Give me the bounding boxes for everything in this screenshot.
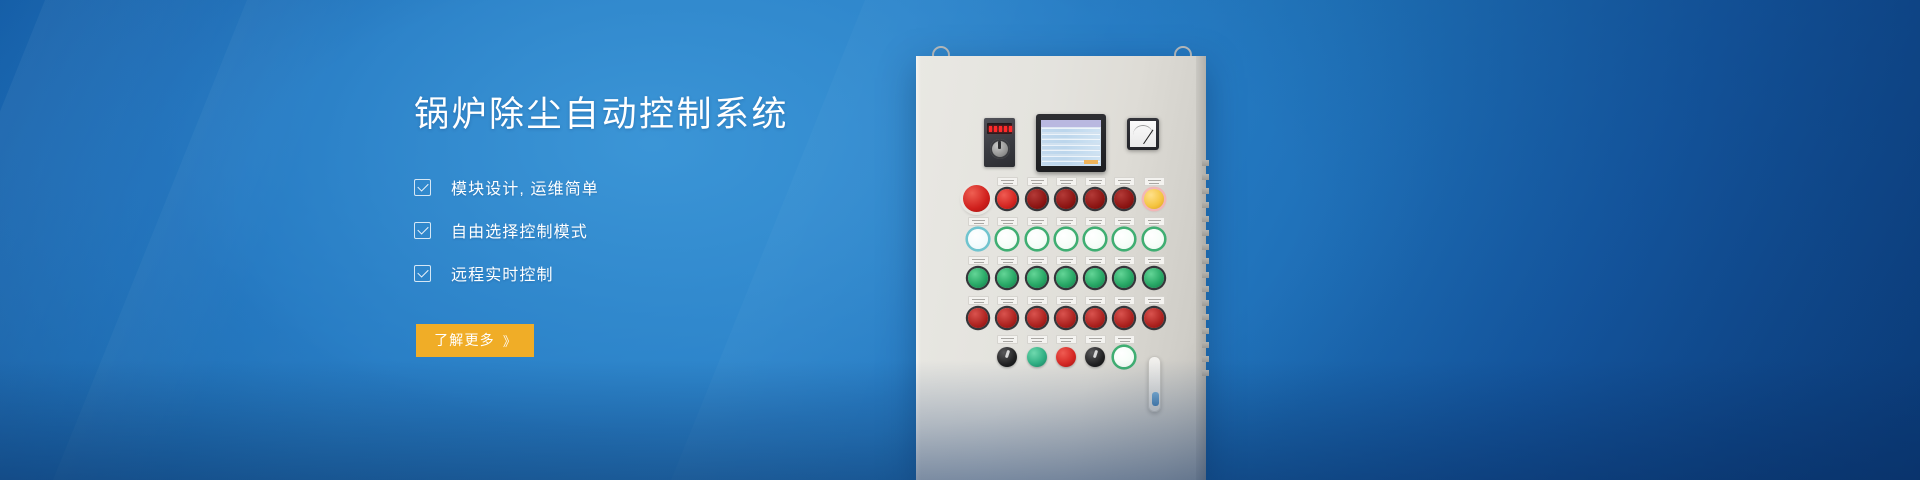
indicator-lamp-red[interactable] [1144, 308, 1164, 328]
hmi-screen-header [1041, 120, 1101, 127]
indicator-lamp-white[interactable] [968, 229, 988, 249]
indicator-lamp-green[interactable] [1114, 268, 1134, 288]
control-cabinet-image [916, 46, 1206, 480]
device-label [1114, 217, 1135, 226]
device-label [1027, 177, 1048, 186]
checkbox-check-icon [414, 265, 431, 282]
device-label [1114, 335, 1135, 344]
device-label [997, 335, 1018, 344]
indicator-lamp-green[interactable] [1144, 268, 1164, 288]
meter-needle-icon [1143, 130, 1154, 145]
light-streak-decoration [0, 0, 432, 480]
indicator-lamp-red[interactable] [1027, 308, 1047, 328]
device-label [1144, 296, 1165, 305]
indicator-lamp-red[interactable] [1114, 308, 1134, 328]
learn-more-button[interactable]: 了解更多 》 [416, 324, 534, 357]
chevron-right-icon: 》 [503, 331, 516, 350]
rotary-knob-icon [990, 139, 1010, 159]
led-display [987, 123, 1012, 134]
device-label [1056, 335, 1077, 344]
device-label [1114, 256, 1135, 265]
checkbox-check-icon [414, 179, 431, 196]
checkbox-check-icon [414, 222, 431, 239]
device-label [1144, 217, 1165, 226]
device-label [997, 217, 1018, 226]
indicator-lamp-red[interactable] [1056, 308, 1076, 328]
learn-more-label: 了解更多 [434, 330, 495, 350]
indicator-lamp-green[interactable] [1085, 268, 1105, 288]
light-streak-decoration [0, 0, 324, 480]
lamp-row [962, 263, 1167, 290]
meter-face [1130, 121, 1156, 147]
device-label [1056, 217, 1077, 226]
indicator-lamp-white[interactable] [1114, 229, 1134, 249]
indicator-lamp-red[interactable] [997, 189, 1017, 209]
lamp-row [962, 184, 1167, 211]
cabinet-left-highlight [916, 56, 921, 480]
indicator-lamp-red[interactable] [997, 308, 1017, 328]
device-label [1114, 296, 1135, 305]
device-label [1056, 177, 1077, 186]
indicator-lamp-amber[interactable] [1144, 189, 1164, 209]
indicator-lamp-white[interactable] [1056, 229, 1076, 249]
device-label [968, 296, 989, 305]
indicator-lamp-red[interactable] [1056, 189, 1076, 209]
device-label [968, 256, 989, 265]
feature-label: 远程实时控制 [451, 261, 554, 285]
feature-label: 自由选择控制模式 [451, 218, 588, 242]
list-item: 自由选择控制模式 [414, 214, 974, 247]
hero-banner: 锅炉除尘自动控制系统 模块设计, 运维简单 自由选择控制模式 远程实时控制 了解… [0, 0, 1920, 480]
indicator-lamp-red[interactable] [1114, 189, 1134, 209]
emergency-stop-button[interactable] [963, 185, 990, 212]
indicator-lamp-red[interactable] [968, 308, 988, 328]
indicator-button-grid [962, 184, 1167, 382]
hmi-screen [1041, 120, 1101, 166]
device-label [1144, 256, 1165, 265]
indicator-lamp-green[interactable] [1027, 268, 1047, 288]
digital-temperature-controller [984, 118, 1015, 167]
indicator-lamp-green[interactable] [997, 268, 1017, 288]
indicator-lamp-red[interactable] [1085, 189, 1105, 209]
banner-copy-block: 锅炉除尘自动控制系统 模块设计, 运维简单 自由选择控制模式 远程实时控制 了解… [414, 96, 974, 357]
cabinet-hinges [1202, 160, 1209, 410]
device-label [1027, 256, 1048, 265]
indicator-lamp-green[interactable] [1056, 268, 1076, 288]
indicator-lamp-white[interactable] [1027, 229, 1047, 249]
lamp-row [962, 224, 1167, 251]
selector-switch[interactable] [997, 347, 1017, 367]
hmi-screen-button [1084, 160, 1098, 164]
list-item: 模块设计, 运维简单 [414, 171, 974, 204]
device-label [1085, 335, 1106, 344]
device-label [1027, 217, 1048, 226]
indicator-lamp-green[interactable] [1027, 347, 1047, 367]
device-label [1085, 177, 1106, 186]
door-handle[interactable] [1148, 356, 1161, 412]
indicator-lamp-red[interactable] [1085, 308, 1105, 328]
device-label [1085, 296, 1106, 305]
device-label [1056, 256, 1077, 265]
list-item: 远程实时控制 [414, 257, 974, 290]
selector-switch[interactable] [1085, 347, 1105, 367]
device-label [1027, 296, 1048, 305]
device-label [1056, 296, 1077, 305]
page-title: 锅炉除尘自动控制系统 [414, 96, 974, 135]
indicator-lamp-white[interactable] [1114, 347, 1134, 367]
device-label [968, 217, 989, 226]
feature-label: 模块设计, 运维简单 [451, 175, 599, 199]
cabinet-body [916, 56, 1206, 480]
indicator-lamp-white[interactable] [997, 229, 1017, 249]
hmi-touch-panel [1036, 114, 1106, 172]
indicator-lamp-red[interactable] [1027, 189, 1047, 209]
feature-list: 模块设计, 运维简单 自由选择控制模式 远程实时控制 [414, 171, 974, 290]
analog-ammeter [1127, 118, 1159, 150]
device-label [1114, 177, 1135, 186]
device-label [1144, 177, 1165, 186]
indicator-lamp-white[interactable] [1144, 229, 1164, 249]
indicator-lamp-red[interactable] [1056, 347, 1076, 367]
device-label [1085, 256, 1106, 265]
device-label [1085, 217, 1106, 226]
device-label [1027, 335, 1048, 344]
device-label [997, 256, 1018, 265]
lamp-row [962, 342, 1167, 369]
lamp-row [962, 303, 1167, 330]
indicator-lamp-white[interactable] [1085, 229, 1105, 249]
device-label [997, 177, 1018, 186]
device-label [997, 296, 1018, 305]
indicator-lamp-green[interactable] [968, 268, 988, 288]
